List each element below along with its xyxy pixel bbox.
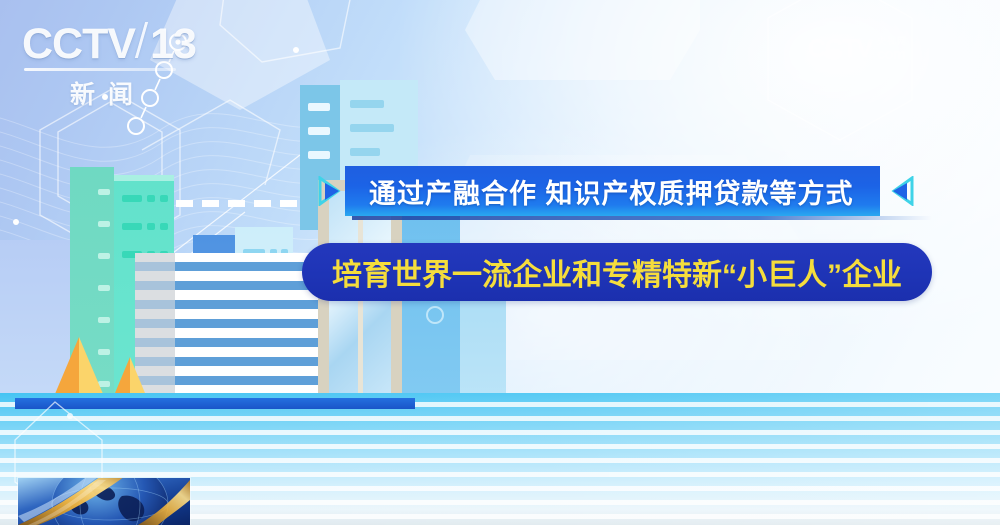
- banner-primary-shadow: [352, 216, 932, 220]
- banner-primary-box: 通过产融合作 知识产权质押贷款等方式: [345, 166, 880, 216]
- watermark-cn-text: 央视网: [877, 37, 907, 46]
- cctv-watermark: CCTV 央视网 com: [808, 30, 968, 68]
- logo-underline: [24, 68, 176, 71]
- logo-cctv-text: CCTV: [22, 23, 135, 66]
- globe-news-graphic[interactable]: [18, 478, 190, 525]
- banner-secondary-text: 培育世界一流企业和专精特新“小巨人”企业: [332, 250, 902, 294]
- cctv13-logo: CCTV 13 新闻: [22, 22, 232, 92]
- building-tower-striped: [135, 253, 321, 415]
- arrow-left-icon: [880, 176, 914, 206]
- watermark-site: 央视网 com: [877, 37, 907, 62]
- building-skyblue-slab: [402, 210, 460, 415]
- banner-primary-text: 通过产融合作 知识产权质押贷款等方式: [369, 172, 854, 211]
- window-dash-row: [176, 200, 306, 207]
- broadcast-frame: CCTV 13 新闻 CCTV 央视网 com: [0, 0, 1000, 525]
- logo-channel-number: 13: [150, 23, 196, 66]
- watermark-brand: CCTV: [808, 35, 872, 64]
- watermark-domain-text: com: [877, 47, 907, 62]
- logo-main-row: CCTV 13: [22, 22, 232, 66]
- banner-secondary: 培育世界一流企业和专精特新“小巨人”企业: [302, 243, 932, 301]
- logo-divider-icon: [135, 22, 148, 58]
